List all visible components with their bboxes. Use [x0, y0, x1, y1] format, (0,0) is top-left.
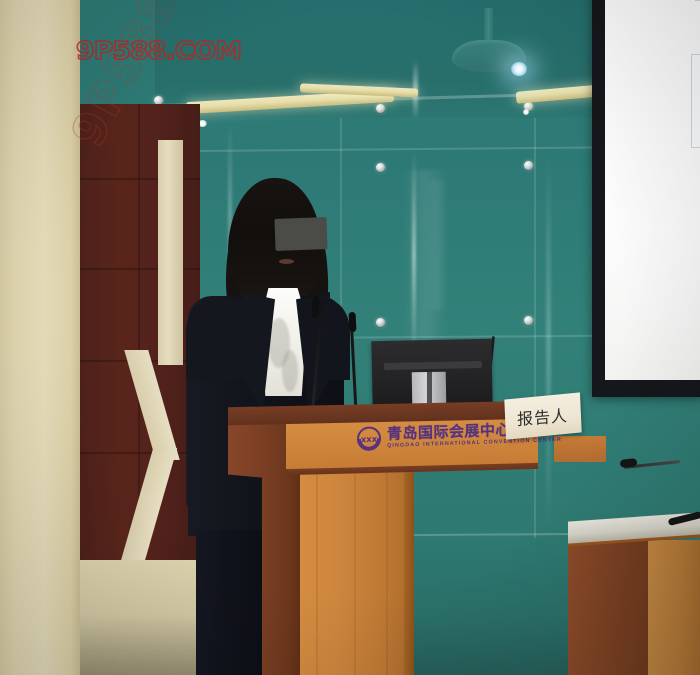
blouse-fold: [282, 350, 298, 392]
side-table-side: [568, 534, 648, 675]
wood-wall-seam: [80, 452, 200, 454]
podium-microphone-icon-2: [348, 312, 356, 332]
screen-faint-line: [695, 0, 700, 1]
floor-shadow: [80, 615, 210, 675]
glass-bolt-icon: [376, 104, 385, 113]
ceiling-small-light: [523, 109, 529, 115]
podium-wood-grain: [354, 470, 356, 675]
podium-wood-grain: [386, 470, 388, 675]
privacy-bar-overlay: [274, 217, 327, 251]
spotlight-stem: [484, 8, 493, 44]
glass-glare-streak: [546, 150, 551, 530]
mouth: [279, 259, 294, 264]
monitor-stand-slot: [427, 372, 432, 406]
podium-wood-grain: [316, 470, 318, 675]
name-card-label: 报告人: [517, 402, 568, 430]
projection-screen-surface[interactable]: [605, 0, 700, 380]
podium-body-front: [300, 470, 406, 675]
cream-accent-strip: [158, 140, 183, 365]
glass-bolt-icon: [376, 318, 385, 327]
podium-body-side: [262, 466, 302, 675]
speaker-name-card[interactable]: 报告人: [504, 392, 581, 439]
glass-bolt-icon: [524, 161, 533, 170]
glass-bolt-icon: [524, 316, 533, 325]
cream-pillar: [0, 0, 80, 675]
glass-glare-streak: [412, 150, 416, 360]
spotlight-bulb-icon: [511, 62, 527, 76]
glass-bolt-icon: [376, 163, 385, 172]
podium-body-edge: [404, 470, 414, 675]
conference-photo-scene: xxx 青岛国际会展中心 QINGDAO INTERNATIONAL CONVE…: [0, 0, 700, 675]
svg-text:xxx: xxx: [361, 434, 378, 445]
shoulder-left: [186, 300, 248, 380]
side-table-front: [648, 540, 700, 675]
screen-content-box: [691, 54, 700, 148]
cxxx-logo-icon: xxx: [356, 425, 382, 452]
glass-seam-vertical-2: [534, 118, 536, 538]
glass-reflection: [425, 180, 449, 310]
